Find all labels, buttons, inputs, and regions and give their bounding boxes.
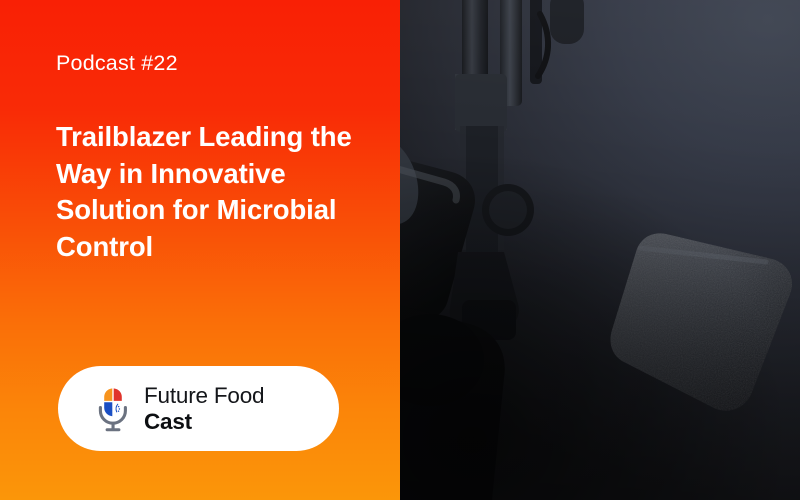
podcast-logo-text: Future Food Cast xyxy=(144,383,264,435)
episode-headline: Trailblazer Leading the Way in Innovativ… xyxy=(56,119,386,265)
episode-number-label: Podcast #22 xyxy=(56,53,178,75)
podcast-logo-badge[interactable]: Future Food Cast xyxy=(58,366,339,451)
left-panel: Podcast #22 Trailblazer Leading the Way … xyxy=(0,0,400,500)
right-panel: Speaker Katie Moore Vice President of Sa… xyxy=(400,0,800,500)
logo-line-one: Future Food xyxy=(144,383,264,409)
future-food-cast-microphone-logo-icon xyxy=(96,385,130,433)
broadcast-microphone-art-icon xyxy=(400,0,800,500)
podcast-promo-card: Podcast #22 Trailblazer Leading the Way … xyxy=(0,0,800,500)
logo-line-two: Cast xyxy=(144,409,264,435)
